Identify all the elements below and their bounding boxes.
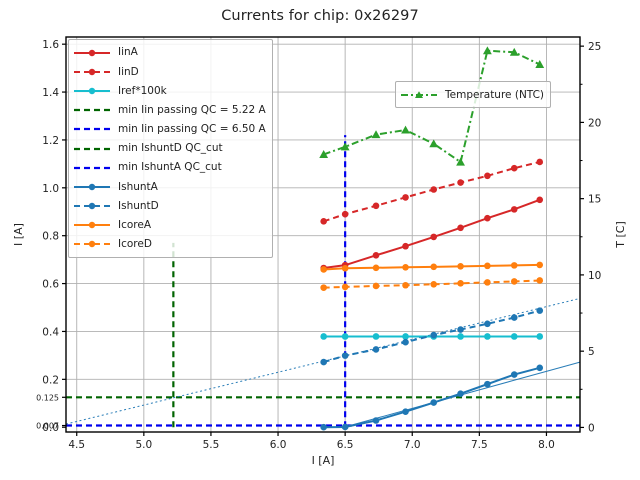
legend-key <box>73 103 111 117</box>
legend-item-label: min IshuntA QC_cut <box>118 162 222 173</box>
legend-main-item[interactable]: min Iin passing QC = 6.50 A <box>73 120 266 139</box>
figure: Currents for chip: 0x26297 4.55.05.56.06… <box>0 0 640 480</box>
tick-label: 1.4 <box>42 87 59 99</box>
data-marker <box>511 333 518 340</box>
data-marker <box>373 346 380 353</box>
data-marker <box>457 179 464 186</box>
tick-label: 25 <box>588 41 601 53</box>
data-marker <box>484 263 491 270</box>
legend-key-box <box>73 180 111 194</box>
data-marker <box>430 234 437 241</box>
legend-key-box <box>73 161 111 175</box>
data-marker <box>484 215 491 222</box>
tick-label: 8.0 <box>538 439 555 451</box>
data-marker <box>320 218 327 225</box>
data-marker <box>373 264 380 271</box>
data-marker <box>373 417 380 424</box>
data-marker <box>342 284 349 291</box>
data-marker <box>402 333 409 340</box>
legend-key-marker <box>89 184 95 190</box>
tick-label: 4.5 <box>68 439 85 451</box>
legend-key <box>73 199 111 213</box>
legend-main: IinAIinDIref*100kmin Iin passing QC = 5.… <box>68 39 273 258</box>
data-marker <box>320 284 327 291</box>
data-marker <box>402 264 409 271</box>
data-marker <box>402 408 409 415</box>
legend-key-box <box>73 142 111 156</box>
tick-label: 7.0 <box>404 439 421 451</box>
data-marker <box>320 359 327 366</box>
legend-key <box>73 84 111 98</box>
tick-label: 5.0 <box>135 439 152 451</box>
tick-label: 6.0 <box>270 439 287 451</box>
data-marker <box>402 194 409 201</box>
data-marker <box>373 202 380 209</box>
legend-key-box <box>73 46 111 60</box>
tick-label: 0 <box>588 422 595 434</box>
legend-main-item[interactable]: IcoreD <box>73 235 266 254</box>
tick-label: 0.6 <box>42 279 59 291</box>
data-marker <box>484 381 491 388</box>
legend-key-box <box>73 218 111 232</box>
legend-item-label: Temperature (NTC) <box>445 89 544 101</box>
data-marker <box>430 281 437 288</box>
legend-key <box>73 237 111 251</box>
legend-main-item[interactable]: IinA <box>73 43 266 62</box>
data-marker <box>457 326 464 333</box>
tick-label: 0.8 <box>42 231 59 243</box>
legend-key-box <box>73 84 111 98</box>
tick-label: 10 <box>588 270 601 282</box>
data-marker <box>511 165 518 172</box>
data-marker <box>457 390 464 397</box>
data-marker <box>320 266 327 273</box>
legend-item-label: Iref*100k <box>118 86 167 97</box>
legend-item-label: min Iin passing QC = 5.22 A <box>118 105 266 116</box>
y-axis-label: I [A] <box>12 223 25 246</box>
legend-item-label: IshuntA <box>118 182 158 193</box>
y2-axis-label: T [C] <box>614 221 627 248</box>
legend-main-item[interactable]: IshuntD <box>73 197 266 216</box>
data-marker <box>430 332 437 339</box>
legend-item-label: min Iin passing QC = 6.50 A <box>118 124 266 135</box>
legend-key-box <box>73 65 111 79</box>
tick-label: 15 <box>588 194 601 206</box>
tick-label: 0.125 <box>36 393 59 402</box>
data-marker <box>430 264 437 271</box>
legend-key-marker <box>89 203 95 209</box>
legend-key <box>73 142 111 156</box>
legend-key-marker <box>89 222 95 228</box>
legend-key-box <box>73 103 111 117</box>
data-marker <box>430 399 437 406</box>
data-marker <box>484 333 491 340</box>
tick-label: 5.5 <box>203 439 220 451</box>
legend-item-label: IcoreD <box>118 239 152 250</box>
data-marker <box>536 333 543 340</box>
legend-item-label: IinA <box>118 47 138 58</box>
legend-key <box>73 161 111 175</box>
legend-key <box>73 46 111 60</box>
tick-label: 6.5 <box>337 439 354 451</box>
legend-key-marker <box>89 69 95 75</box>
data-marker <box>320 333 327 340</box>
data-marker <box>536 277 543 284</box>
tick-label: 1.6 <box>42 39 59 51</box>
legend-key-marker <box>89 241 95 247</box>
legend-item-label: min IshuntD QC_cut <box>118 143 223 154</box>
legend-key <box>73 122 111 136</box>
data-marker <box>342 333 349 340</box>
legend-key <box>73 218 111 232</box>
data-marker <box>402 339 409 346</box>
tick-label: 0.007 <box>36 422 59 431</box>
data-marker <box>430 186 437 193</box>
legend-key-box <box>400 88 438 102</box>
data-marker <box>457 333 464 340</box>
legend-item-label: IinD <box>118 67 139 78</box>
legend-key <box>73 65 111 79</box>
data-marker <box>402 243 409 250</box>
data-marker <box>511 314 518 321</box>
legend-main-item[interactable]: IshuntA <box>73 177 266 196</box>
legend-key <box>400 88 438 102</box>
legend-temperature: Temperature (NTC) <box>395 81 551 108</box>
legend-key-box <box>73 199 111 213</box>
legend-main-item[interactable]: min IshuntA QC_cut <box>73 158 266 177</box>
legend-main-item[interactable]: min Iin passing QC = 5.22 A <box>73 101 266 120</box>
data-marker <box>536 365 543 372</box>
data-marker <box>536 262 543 269</box>
tick-label: 0.4 <box>42 326 59 338</box>
data-marker <box>511 206 518 213</box>
data-marker <box>484 320 491 327</box>
data-marker <box>373 283 380 290</box>
tick-label: 1.0 <box>42 183 59 195</box>
data-marker <box>536 159 543 166</box>
data-marker <box>320 424 327 431</box>
legend-main-item[interactable]: Iref*100k <box>73 81 266 100</box>
data-marker <box>484 279 491 286</box>
legend-main-item[interactable]: IinD <box>73 62 266 81</box>
data-marker <box>536 196 543 203</box>
legend-key-marker <box>89 49 95 55</box>
legend-key-marker <box>89 88 95 94</box>
legend-main-item[interactable]: IcoreA <box>73 216 266 235</box>
legend-main-item[interactable]: min IshuntD QC_cut <box>73 139 266 158</box>
data-marker <box>457 280 464 287</box>
data-marker <box>484 173 491 180</box>
data-marker <box>536 307 543 314</box>
data-marker <box>342 352 349 359</box>
data-marker <box>457 263 464 270</box>
legend-item-label: IshuntD <box>118 201 159 212</box>
data-marker <box>402 282 409 289</box>
data-marker <box>373 252 380 259</box>
legend-key-box <box>73 237 111 251</box>
data-marker <box>373 333 380 340</box>
data-marker <box>342 424 349 431</box>
tick-label: 0.2 <box>42 374 59 386</box>
legend-item-label: IcoreA <box>118 220 151 231</box>
tick-label: 5 <box>588 346 595 358</box>
legend-temperature-item[interactable]: Temperature (NTC) <box>400 85 544 104</box>
legend-key-box <box>73 122 111 136</box>
data-marker <box>342 211 349 218</box>
data-marker <box>342 265 349 272</box>
data-marker <box>511 278 518 285</box>
tick-label: 7.5 <box>471 439 488 451</box>
tick-label: 20 <box>588 117 601 129</box>
data-marker <box>511 371 518 378</box>
legend-key <box>73 180 111 194</box>
data-marker <box>457 224 464 231</box>
data-marker <box>511 262 518 269</box>
x-axis-label: I [A] <box>312 454 335 467</box>
tick-label: 1.2 <box>42 135 59 147</box>
